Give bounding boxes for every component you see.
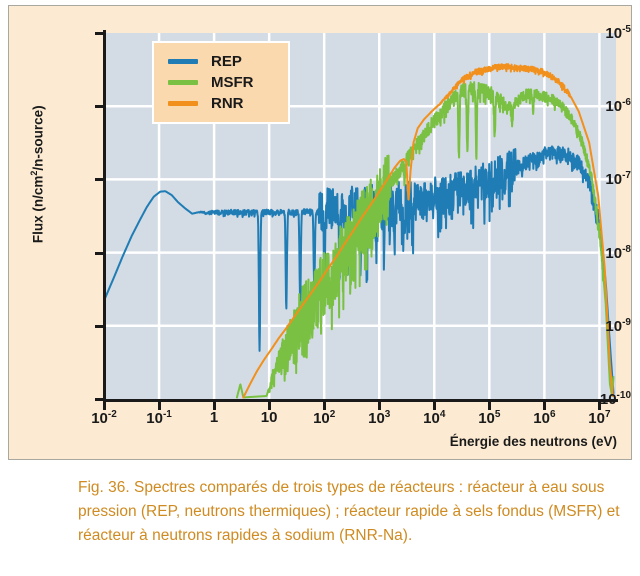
legend-item[interactable]: MSFR bbox=[154, 72, 288, 93]
legend-swatch-rnr bbox=[168, 101, 198, 106]
legend-label-rnr: RNR bbox=[211, 96, 244, 111]
y-tick-mark bbox=[95, 252, 106, 255]
chart-legend: REP MSFR RNR bbox=[152, 41, 290, 124]
legend-label-msfr: MSFR bbox=[211, 75, 254, 90]
x-tick-label: 10-2 bbox=[91, 410, 117, 426]
y-tick-label: 10-7 bbox=[549, 171, 631, 187]
x-tick-label: 10 bbox=[261, 410, 278, 425]
x-tick-label: 106 bbox=[533, 410, 555, 426]
x-tick-label: 102 bbox=[313, 410, 335, 426]
series-line-msfr bbox=[237, 82, 614, 397]
y-tick-label: 10-5 bbox=[549, 25, 631, 41]
y-tick-label: 10-10 bbox=[549, 391, 631, 407]
y-tick-label: 10-6 bbox=[549, 98, 631, 114]
x-tick-label: 1 bbox=[210, 410, 218, 425]
legend-item[interactable]: RNR bbox=[154, 93, 288, 114]
figure-caption: Fig. 36. Spectres comparés de trois type… bbox=[78, 476, 626, 548]
x-tick-mark bbox=[323, 399, 326, 410]
y-tick-label: 10-9 bbox=[549, 318, 631, 334]
x-tick-mark bbox=[433, 399, 436, 410]
x-axis-line bbox=[103, 399, 618, 402]
x-tick-label: 104 bbox=[423, 410, 445, 426]
legend-swatch-rep bbox=[168, 59, 198, 64]
y-tick-mark bbox=[95, 325, 106, 328]
x-tick-label: 103 bbox=[368, 410, 390, 426]
legend-label-rep: REP bbox=[211, 54, 242, 69]
y-axis-title: Flux (n/cm2/n-source) bbox=[29, 64, 46, 284]
x-tick-mark bbox=[378, 399, 381, 410]
y-axis-line bbox=[103, 30, 106, 402]
x-axis-title: Énergie des neutrons (eV) bbox=[450, 434, 617, 449]
x-tick-mark bbox=[103, 399, 106, 410]
x-tick-mark bbox=[543, 399, 546, 410]
legend-swatch-msfr bbox=[168, 80, 198, 85]
y-tick-mark bbox=[95, 105, 106, 108]
y-tick-label: 10-8 bbox=[549, 245, 631, 261]
figure-panel: 10-510-610-710-810-910-10 10-210-1110102… bbox=[8, 5, 632, 460]
y-tick-mark bbox=[95, 32, 106, 35]
x-tick-label: 107 bbox=[588, 410, 610, 426]
x-tick-mark bbox=[488, 399, 491, 410]
legend-item[interactable]: REP bbox=[154, 51, 288, 72]
x-tick-mark bbox=[598, 399, 601, 410]
x-tick-label: 105 bbox=[478, 410, 500, 426]
figure-root: 10-510-610-710-810-910-10 10-210-1110102… bbox=[0, 0, 640, 576]
y-tick-mark bbox=[95, 178, 106, 181]
x-tick-mark bbox=[158, 399, 161, 410]
x-tick-label: 10-1 bbox=[146, 410, 172, 426]
